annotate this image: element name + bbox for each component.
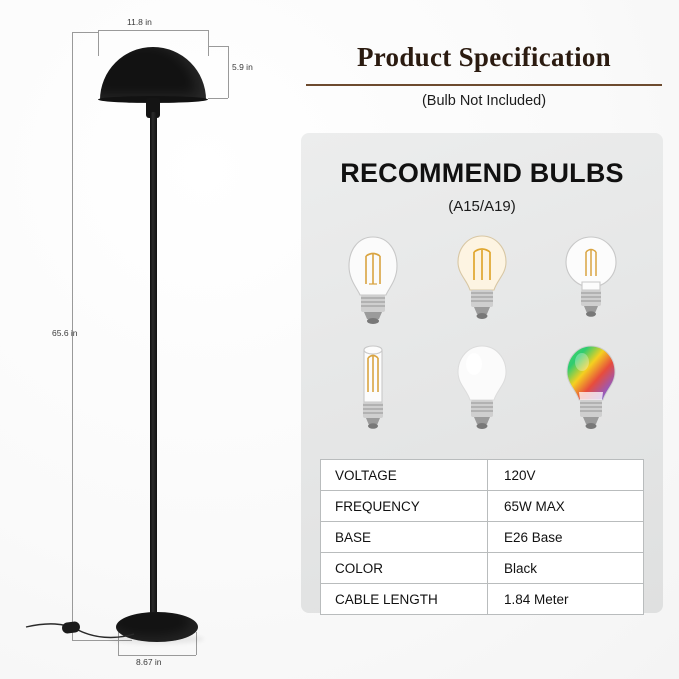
shade-width-tick-left [98,30,99,56]
shade-width-tick-right [208,30,209,56]
bulb-cell [536,229,645,339]
table-row: BASE E26 Base [321,522,644,553]
bulb-t45-tube-filament-icon [342,342,404,446]
bulb-a19-filament-amber-icon [451,232,513,336]
table-row: COLOR Black [321,553,644,584]
spec-value: 120V [488,460,644,491]
lamp-diagram: 11.8 in 5.9 in 65.6 in 8.67 in [0,0,290,679]
table-row: FREQUENCY 65W MAX [321,491,644,522]
base-width-label: 8.67 in [136,657,162,667]
spec-value: 1.84 Meter [488,584,644,615]
bulb-cell [536,339,645,449]
bulb-cell [319,339,428,449]
table-row: VOLTAGE 120V [321,460,644,491]
shade-height-label: 5.9 in [232,62,253,72]
specification-table: VOLTAGE 120V FREQUENCY 65W MAX BASE E26 … [320,459,644,615]
shade-height-tick-top [208,46,228,47]
shade-width-dimension-line [98,30,208,31]
page-subtitle: (Bulb Not Included) [304,93,664,109]
spec-value: E26 Base [488,522,644,553]
spec-key: VOLTAGE [321,460,488,491]
specification-panel: Product Specification (Bulb Not Included… [290,0,679,679]
total-height-label: 65.6 in [52,328,78,338]
bulb-cell [319,229,428,339]
shade-height-tick-bottom [208,98,228,99]
lamp-dome-shade [100,47,206,100]
shade-width-label: 11.8 in [127,17,152,27]
bulb-st64-filament-clear-icon [342,232,404,336]
spec-value: Black [488,553,644,584]
bulb-a19-rgb-smart-icon [560,342,622,446]
recommend-bulbs-card: RECOMMEND BULBS (A15/A19) [301,133,663,613]
shade-height-dimension-line [228,46,229,98]
bulb-cell [428,339,537,449]
spec-key: BASE [321,522,488,553]
spec-key: CABLE LENGTH [321,584,488,615]
power-cord [24,600,134,640]
spec-value: 65W MAX [488,491,644,522]
title-divider [306,84,662,86]
bulb-cell [428,229,537,339]
card-heading: RECOMMEND BULBS [301,158,663,189]
bulb-grid [319,229,645,449]
product-spec-page: 11.8 in 5.9 in 65.6 in 8.67 in Product S… [0,0,679,679]
table-row: CABLE LENGTH 1.84 Meter [321,584,644,615]
bulb-a19-frosted-white-icon [451,342,513,446]
base-width-dimension-line [118,655,196,656]
spec-key: FREQUENCY [321,491,488,522]
total-height-tick-top [72,32,98,33]
lamp-pole [150,112,157,620]
page-title: Product Specification [304,42,664,73]
bulb-g25-globe-clear-icon [560,232,622,336]
spec-key: COLOR [321,553,488,584]
card-subheading: (A15/A19) [301,198,663,215]
